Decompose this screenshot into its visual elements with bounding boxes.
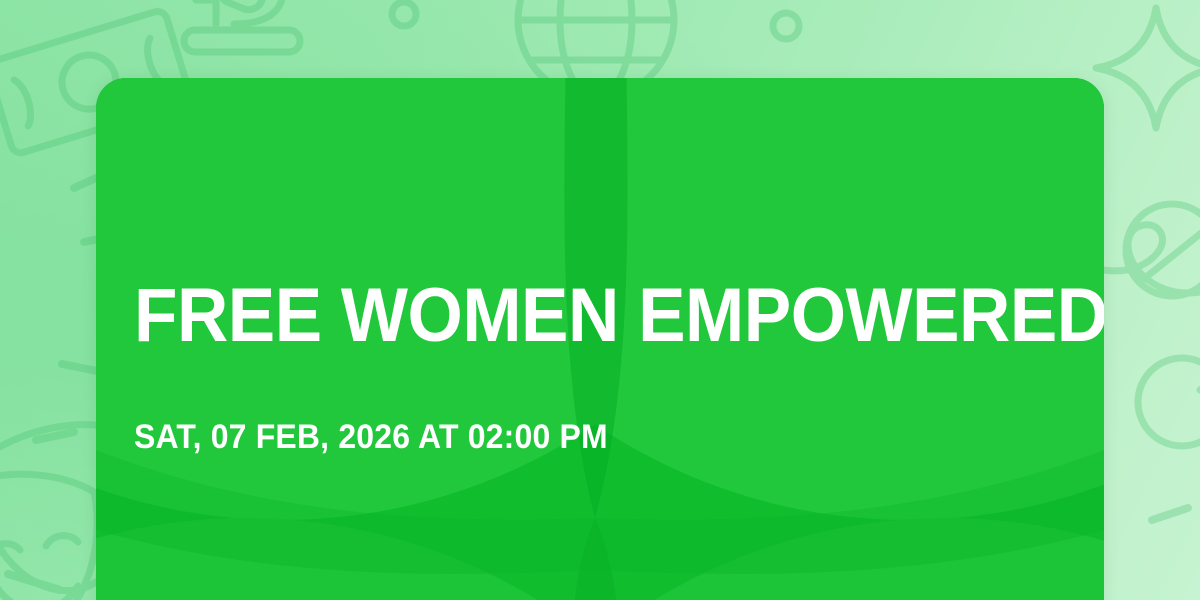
page-title: FREE WOMEN EMPOWERED SEMINAR [134, 274, 1104, 358]
event-card[interactable]: FREE WOMEN EMPOWERED SEMINAR SAT, 07 FEB… [96, 78, 1104, 600]
ring-icon [392, 2, 416, 26]
event-banner: FREE WOMEN EMPOWERED SEMINAR SAT, 07 FEB… [0, 0, 1200, 600]
card-text-block: FREE WOMEN EMPOWERED SEMINAR SAT, 07 FEB… [134, 78, 1094, 600]
microscope-icon [184, 0, 300, 52]
event-date-time: SAT, 07 FEB, 2026 AT 02:00 PM [134, 416, 608, 458]
sparkle-icon [1096, 8, 1200, 128]
ring-icon [773, 13, 799, 39]
confetti-streamer-icon [1138, 358, 1200, 446]
dash-stroke-icon [1152, 508, 1188, 520]
